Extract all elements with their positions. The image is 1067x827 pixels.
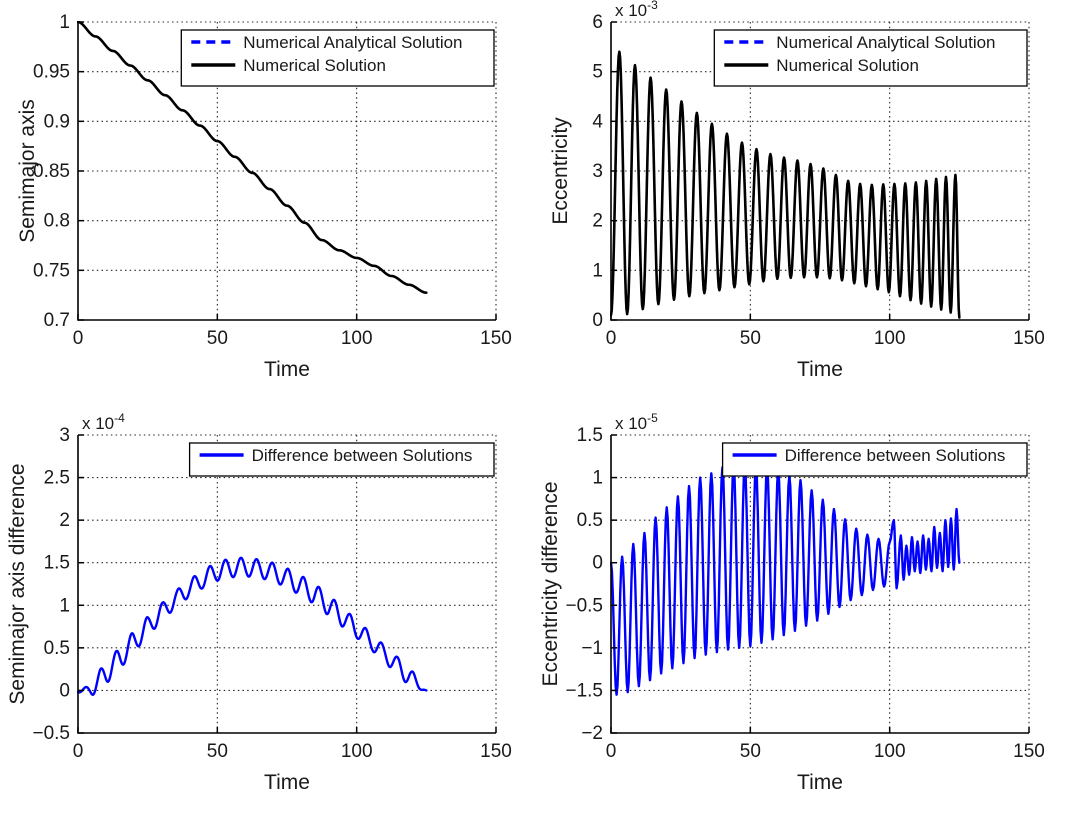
y-tick-label: 3 [592,161,603,182]
y-tick-label: 6 [592,12,603,33]
y-tick-label: 1 [59,12,70,33]
y-tick-label: 0 [592,553,603,574]
chart-eccentricity: 0123456050100150x 10-3TimeEccentricityNu… [533,0,1067,414]
x-axis-label: Time [797,358,843,381]
y-tick-label: 0.9 [44,111,70,132]
plot-area [611,52,959,318]
y-tick-label: −1.5 [565,680,603,701]
x-tick-label: 0 [606,741,617,762]
series-difference [611,465,959,695]
y-tick-label: 0.8 [44,211,70,232]
plot-area [611,465,959,695]
y-tick-label: −0.5 [565,595,603,616]
plot-area [78,558,426,695]
y-tick-label: 3 [59,425,70,446]
x-tick-label: 50 [740,328,761,349]
legend: Numerical Analytical SolutionNumerical S… [181,30,494,86]
x-tick-label: 100 [341,741,373,762]
chart-eccentricity-difference: −2−1.5−1−0.500.511.5050100150x 10-5TimeE… [533,413,1067,827]
chart-semimajor-axis: 0.70.750.80.850.90.951050100150TimeSemim… [0,0,534,414]
x-tick-label: 100 [874,328,906,349]
series-numerical-solution [611,52,959,318]
y-tick-label: 0.5 [44,638,70,659]
legend: Numerical Analytical SolutionNumerical S… [714,30,1027,86]
y-tick-label: 1.5 [577,425,603,446]
legend-label: Numerical Solution [776,56,919,75]
legend-label: Difference between Solutions [252,446,473,465]
y-tick-label: 1 [592,260,603,281]
x-tick-label: 100 [874,741,906,762]
x-axis-label: Time [264,358,310,381]
y-tick-label: 2 [59,510,70,531]
legend: Difference between Solutions [723,443,1027,476]
y-tick-label: 5 [592,62,603,83]
panel-semimajor-axis-difference: −0.500.511.522.53050100150x 10-4TimeSemi… [0,413,534,827]
y-axis-label: Semimajor axis difference [6,463,29,704]
x-tick-label: 0 [73,741,84,762]
y-axis-exponent: x 10-5 [615,413,658,433]
panel-eccentricity-difference: −2−1.5−1−0.500.511.5050100150x 10-5TimeE… [533,413,1067,827]
panel-semimajor-axis: 0.70.750.80.850.90.951050100150TimeSemim… [0,0,534,414]
y-axis-exponent: x 10-4 [82,413,125,433]
x-axis-label: Time [797,771,843,794]
y-axis-label: Eccentricity [549,117,572,225]
y-tick-label: 0 [59,680,70,701]
figure-canvas: 0.70.750.80.850.90.951050100150TimeSemim… [0,0,1067,827]
chart-semimajor-axis-difference: −0.500.511.522.53050100150x 10-4TimeSemi… [0,413,534,827]
legend-label: Difference between Solutions [785,446,1006,465]
legend-label: Numerical Solution [243,56,386,75]
y-tick-label: 0 [592,310,603,331]
x-tick-label: 150 [480,328,512,349]
series-difference [78,558,426,695]
x-tick-label: 50 [207,741,228,762]
x-tick-label: 50 [740,741,761,762]
y-tick-label: −0.5 [32,723,70,744]
x-tick-label: 0 [606,328,617,349]
y-axis-exponent: x 10-3 [615,0,658,20]
legend-label: Numerical Analytical Solution [776,33,995,52]
x-tick-label: 50 [207,328,228,349]
y-tick-label: 0.95 [33,62,70,83]
y-tick-label: 4 [592,111,603,132]
legend: Difference between Solutions [190,443,494,476]
x-tick-label: 150 [1013,328,1045,349]
y-axis-label: Semimajor axis [16,99,39,243]
x-tick-label: 150 [1013,741,1045,762]
x-tick-label: 100 [341,328,373,349]
y-tick-label: 0.5 [577,510,603,531]
y-axis-label: Eccentricity difference [539,481,562,686]
y-tick-label: −2 [581,723,603,744]
y-tick-label: 2.5 [44,468,70,489]
y-tick-label: 1 [592,468,603,489]
axis-frame [78,435,496,733]
x-axis-label: Time [264,771,310,794]
x-tick-label: 0 [73,328,84,349]
y-tick-label: 1 [59,595,70,616]
y-tick-label: 2 [592,211,603,232]
y-tick-label: −1 [581,638,603,659]
y-tick-label: 0.75 [33,260,70,281]
legend-label: Numerical Analytical Solution [243,33,462,52]
y-tick-label: 0.7 [44,310,70,331]
x-tick-label: 150 [480,741,512,762]
panel-eccentricity: 0123456050100150x 10-3TimeEccentricityNu… [533,0,1067,414]
y-tick-label: 1.5 [44,553,70,574]
